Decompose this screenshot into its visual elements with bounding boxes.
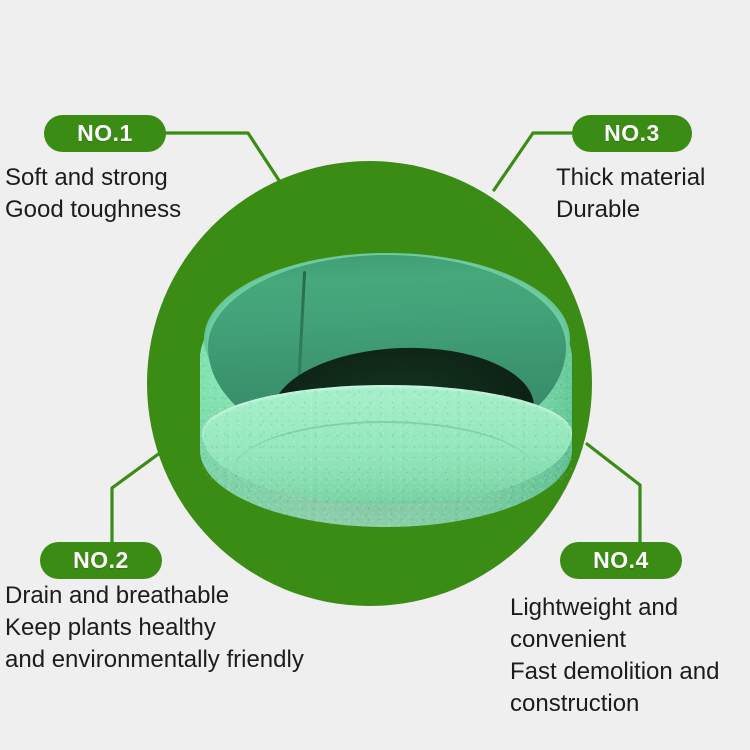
badge-no-2: NO.2 bbox=[40, 542, 162, 579]
badge-no-4: NO.4 bbox=[560, 542, 682, 579]
badge-no-3: NO.3 bbox=[572, 115, 692, 152]
feature-text-1: Soft and strong Good toughness bbox=[5, 162, 335, 226]
product-feature-infographic: NO.1 Soft and strong Good toughness NO.3… bbox=[0, 0, 750, 750]
connector-line-2 bbox=[112, 447, 168, 543]
connector-line-4 bbox=[587, 444, 640, 543]
feature-text-2: Drain and breathable Keep plants healthy… bbox=[5, 580, 405, 676]
feature-text-4: Lightweight and convenient Fast demoliti… bbox=[510, 592, 750, 720]
product-circle-backdrop bbox=[147, 161, 592, 606]
badge-no-1: NO.1 bbox=[44, 115, 166, 152]
feature-text-3: Thick material Durable bbox=[556, 162, 750, 226]
product-image bbox=[194, 245, 584, 545]
